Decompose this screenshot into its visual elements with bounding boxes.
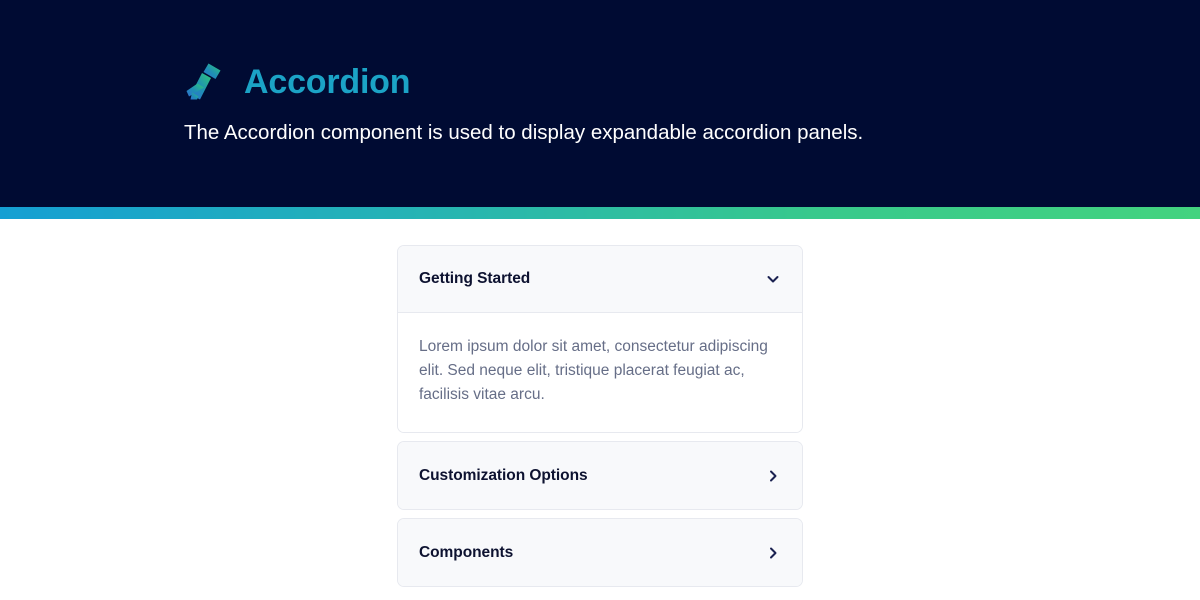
accordion-item-title: Components — [419, 543, 513, 563]
header-content: Accordion The Accordion component is use… — [184, 56, 1024, 149]
main-content: Getting Started Lorem ipsum dolor sit am… — [0, 219, 1200, 600]
accordion-item-header-getting-started[interactable]: Getting Started — [398, 246, 802, 313]
page-subtitle: The Accordion component is used to displ… — [184, 117, 974, 149]
accordion-brand-logo-icon — [184, 61, 226, 103]
page-title: Accordion — [244, 61, 410, 103]
accordion-item-header-customization-options[interactable]: Customization Options — [398, 442, 802, 509]
accordion-item: Customization Options — [397, 441, 803, 510]
chevron-right-icon[interactable] — [765, 468, 781, 484]
accordion-item-title: Customization Options — [419, 466, 588, 486]
accordion-item: Components — [397, 518, 803, 587]
accent-gradient-bar — [0, 207, 1200, 219]
page-header: Accordion The Accordion component is use… — [0, 0, 1200, 207]
title-row: Accordion — [184, 56, 1024, 108]
accordion-item-body: Lorem ipsum dolor sit amet, consectetur … — [419, 335, 781, 407]
chevron-down-icon[interactable] — [765, 271, 781, 287]
accordion: Getting Started Lorem ipsum dolor sit am… — [397, 245, 803, 587]
accordion-item-header-components[interactable]: Components — [398, 519, 802, 586]
chevron-right-icon[interactable] — [765, 545, 781, 561]
accordion-item-panel: Lorem ipsum dolor sit amet, consectetur … — [398, 313, 802, 432]
accordion-item: Getting Started Lorem ipsum dolor sit am… — [397, 245, 803, 433]
accordion-item-title: Getting Started — [419, 269, 530, 289]
